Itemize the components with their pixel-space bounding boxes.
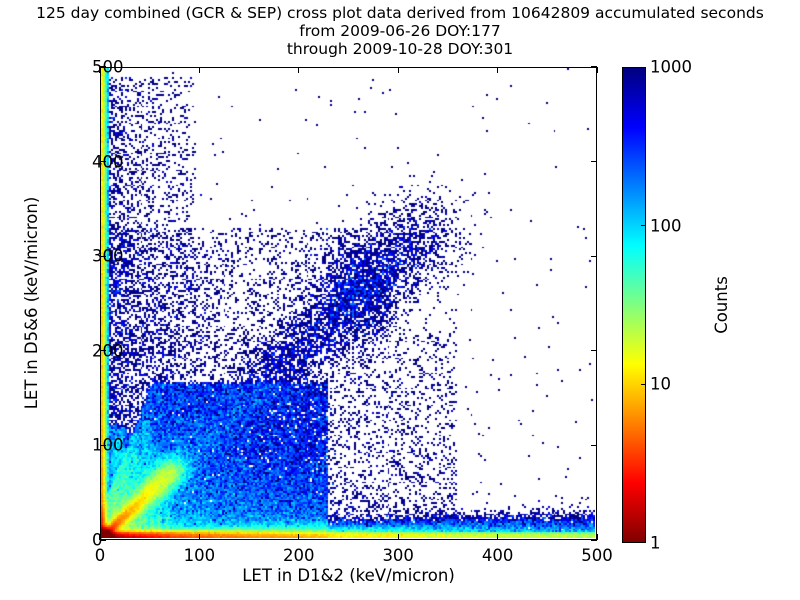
x-tick-label: 500 xyxy=(581,546,613,565)
x-tick-mark-top xyxy=(298,67,299,73)
x-tick-label: 100 xyxy=(184,546,216,565)
colorbar-tick-mark xyxy=(641,384,646,385)
y-tick-mark-right xyxy=(591,66,597,67)
title-line-2: from 2009-06-26 DOY:177 xyxy=(0,22,800,40)
x-tick-mark xyxy=(199,534,200,540)
x-tick-label: 200 xyxy=(283,546,315,565)
y-axis-label: LET in D5&6 (keV/micron) xyxy=(22,197,41,410)
y-tick-mark-right xyxy=(591,350,597,351)
x-tick-mark xyxy=(497,534,498,540)
density-scatter-plot xyxy=(101,68,595,538)
y-tick-mark-right xyxy=(591,256,597,257)
colorbar xyxy=(622,67,646,543)
x-tick-mark-top xyxy=(497,67,498,73)
x-tick-mark-top xyxy=(596,67,597,73)
colorbar-tick-label: 1 xyxy=(650,534,661,553)
x-axis-label: LET in D1&2 (keV/micron) xyxy=(100,566,597,585)
title-line-3: through 2009-10-28 DOY:301 xyxy=(0,40,800,58)
colorbar-tick-mark xyxy=(641,225,646,226)
x-tick-label: 400 xyxy=(482,546,514,565)
x-tick-mark-top xyxy=(199,67,200,73)
colorbar-tick-label: 10 xyxy=(650,375,671,394)
plot-area xyxy=(100,67,597,540)
y-tick-mark-right xyxy=(591,445,597,446)
y-tick-mark-right xyxy=(591,161,597,162)
x-tick-mark xyxy=(298,534,299,540)
y-tick-mark-right xyxy=(591,539,597,540)
colorbar-tick-label: 1000 xyxy=(650,58,692,77)
colorbar-label: Counts xyxy=(712,276,731,334)
figure-title: 125 day combined (GCR & SEP) cross plot … xyxy=(0,4,800,58)
x-tick-mark-top xyxy=(398,67,399,73)
figure-canvas: 125 day combined (GCR & SEP) cross plot … xyxy=(0,0,800,600)
colorbar-tick-label: 100 xyxy=(650,216,682,235)
title-line-1: 125 day combined (GCR & SEP) cross plot … xyxy=(0,4,800,22)
colorbar-gradient xyxy=(623,68,645,542)
x-tick-mark xyxy=(398,534,399,540)
x-tick-label: 300 xyxy=(382,546,414,565)
